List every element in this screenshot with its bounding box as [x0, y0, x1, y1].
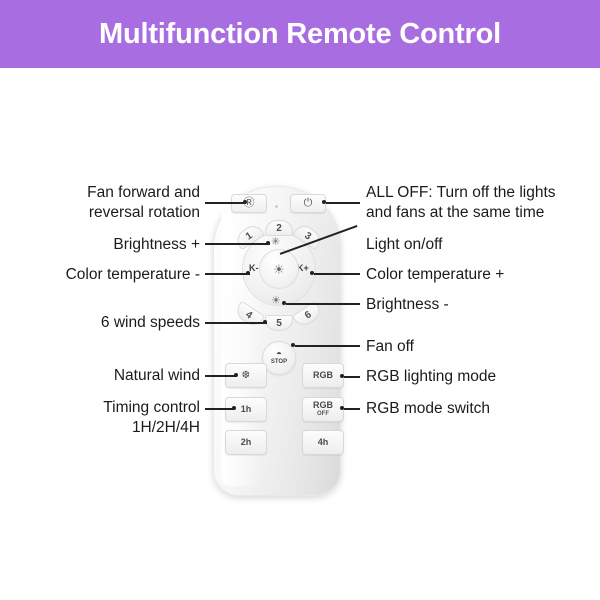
leader-dot-timing-control [232, 406, 236, 410]
rgb-label: RGB [313, 371, 333, 380]
callout-color-temp-up: Color temperature + [366, 265, 586, 285]
leader-fan-off [295, 345, 360, 347]
light-center-button[interactable]: ☀ [259, 249, 299, 289]
stop-label: STOP [271, 359, 287, 366]
timer-4h-button[interactable]: 4h [302, 430, 344, 455]
rgb-off-label: RGB [313, 401, 333, 410]
timer-1h-label: 1h [241, 405, 252, 414]
timer-2h-label: 2h [241, 438, 252, 447]
leader-wind-speeds [205, 322, 267, 324]
callout-brightness-up: Brightness + [60, 235, 200, 255]
leader-dot-natural-wind [234, 373, 238, 377]
callout-brightness-down: Brightness - [366, 295, 586, 315]
power-icon: ⏻ [304, 198, 313, 209]
color-temp-down-button[interactable]: K- [249, 264, 259, 273]
leader-fan-direction [205, 202, 245, 204]
callout-fan-off: Fan off [366, 337, 586, 357]
brightness-up-button[interactable]: ✳ [271, 237, 280, 248]
leader-rgb-switch [344, 408, 360, 410]
leader-timing-control [205, 408, 235, 410]
ir-indicator-dot [275, 205, 278, 208]
rgb-off-button[interactable]: RGB OFF [302, 397, 344, 422]
page-title: Multifunction Remote Control [99, 20, 501, 49]
leader-natural-wind [205, 375, 237, 377]
leader-brightness-down [286, 303, 360, 305]
leader-color-temp-up [314, 273, 360, 275]
callout-fan-direction: Fan forward and reversal rotation [40, 183, 200, 223]
leader-dot-wind-speeds [263, 320, 267, 324]
timer-4h-label: 4h [318, 438, 329, 447]
callout-light-on-off: Light on/off [366, 235, 586, 255]
timer-2h-button[interactable]: 2h [225, 430, 267, 455]
callout-color-temp-down: Color temperature - [26, 265, 200, 285]
callout-natural-wind: Natural wind [60, 366, 200, 386]
callout-wind-speeds: 6 wind speeds [48, 313, 200, 333]
leader-dot-brightness-up [266, 241, 270, 245]
callout-timing-control: Timing control 1H/2H/4H [40, 398, 200, 438]
page-root: Multifunction Remote Control Ⓡ ⏻ ✳ ☀ K- … [0, 0, 600, 600]
light-bulb-icon: ☀ [273, 263, 285, 276]
callout-rgb-mode: RGB lighting mode [366, 367, 591, 387]
fan-speed-2-button[interactable]: 2 [265, 220, 293, 236]
callout-all-off: ALL OFF: Turn off the lights and fans at… [366, 183, 591, 223]
rgb-button[interactable]: RGB [302, 363, 344, 388]
leader-brightness-up [205, 243, 270, 245]
rgb-off-sublabel: OFF [317, 410, 329, 419]
leader-dot-color-temp-down [246, 271, 250, 275]
all-off-power-button[interactable]: ⏻ [290, 194, 326, 213]
leader-rgb-mode [344, 376, 360, 378]
brightness-down-button[interactable]: ☀ [271, 296, 281, 307]
leader-color-temp-down [205, 273, 250, 275]
natural-wind-icon: ❆ [242, 371, 250, 380]
fan-wave-icon: ◓ [276, 351, 282, 359]
leader-dot-fan-direction [243, 200, 247, 204]
callout-rgb-switch: RGB mode switch [366, 399, 591, 419]
page-header: Multifunction Remote Control [0, 0, 600, 68]
leader-all-off [326, 202, 360, 204]
